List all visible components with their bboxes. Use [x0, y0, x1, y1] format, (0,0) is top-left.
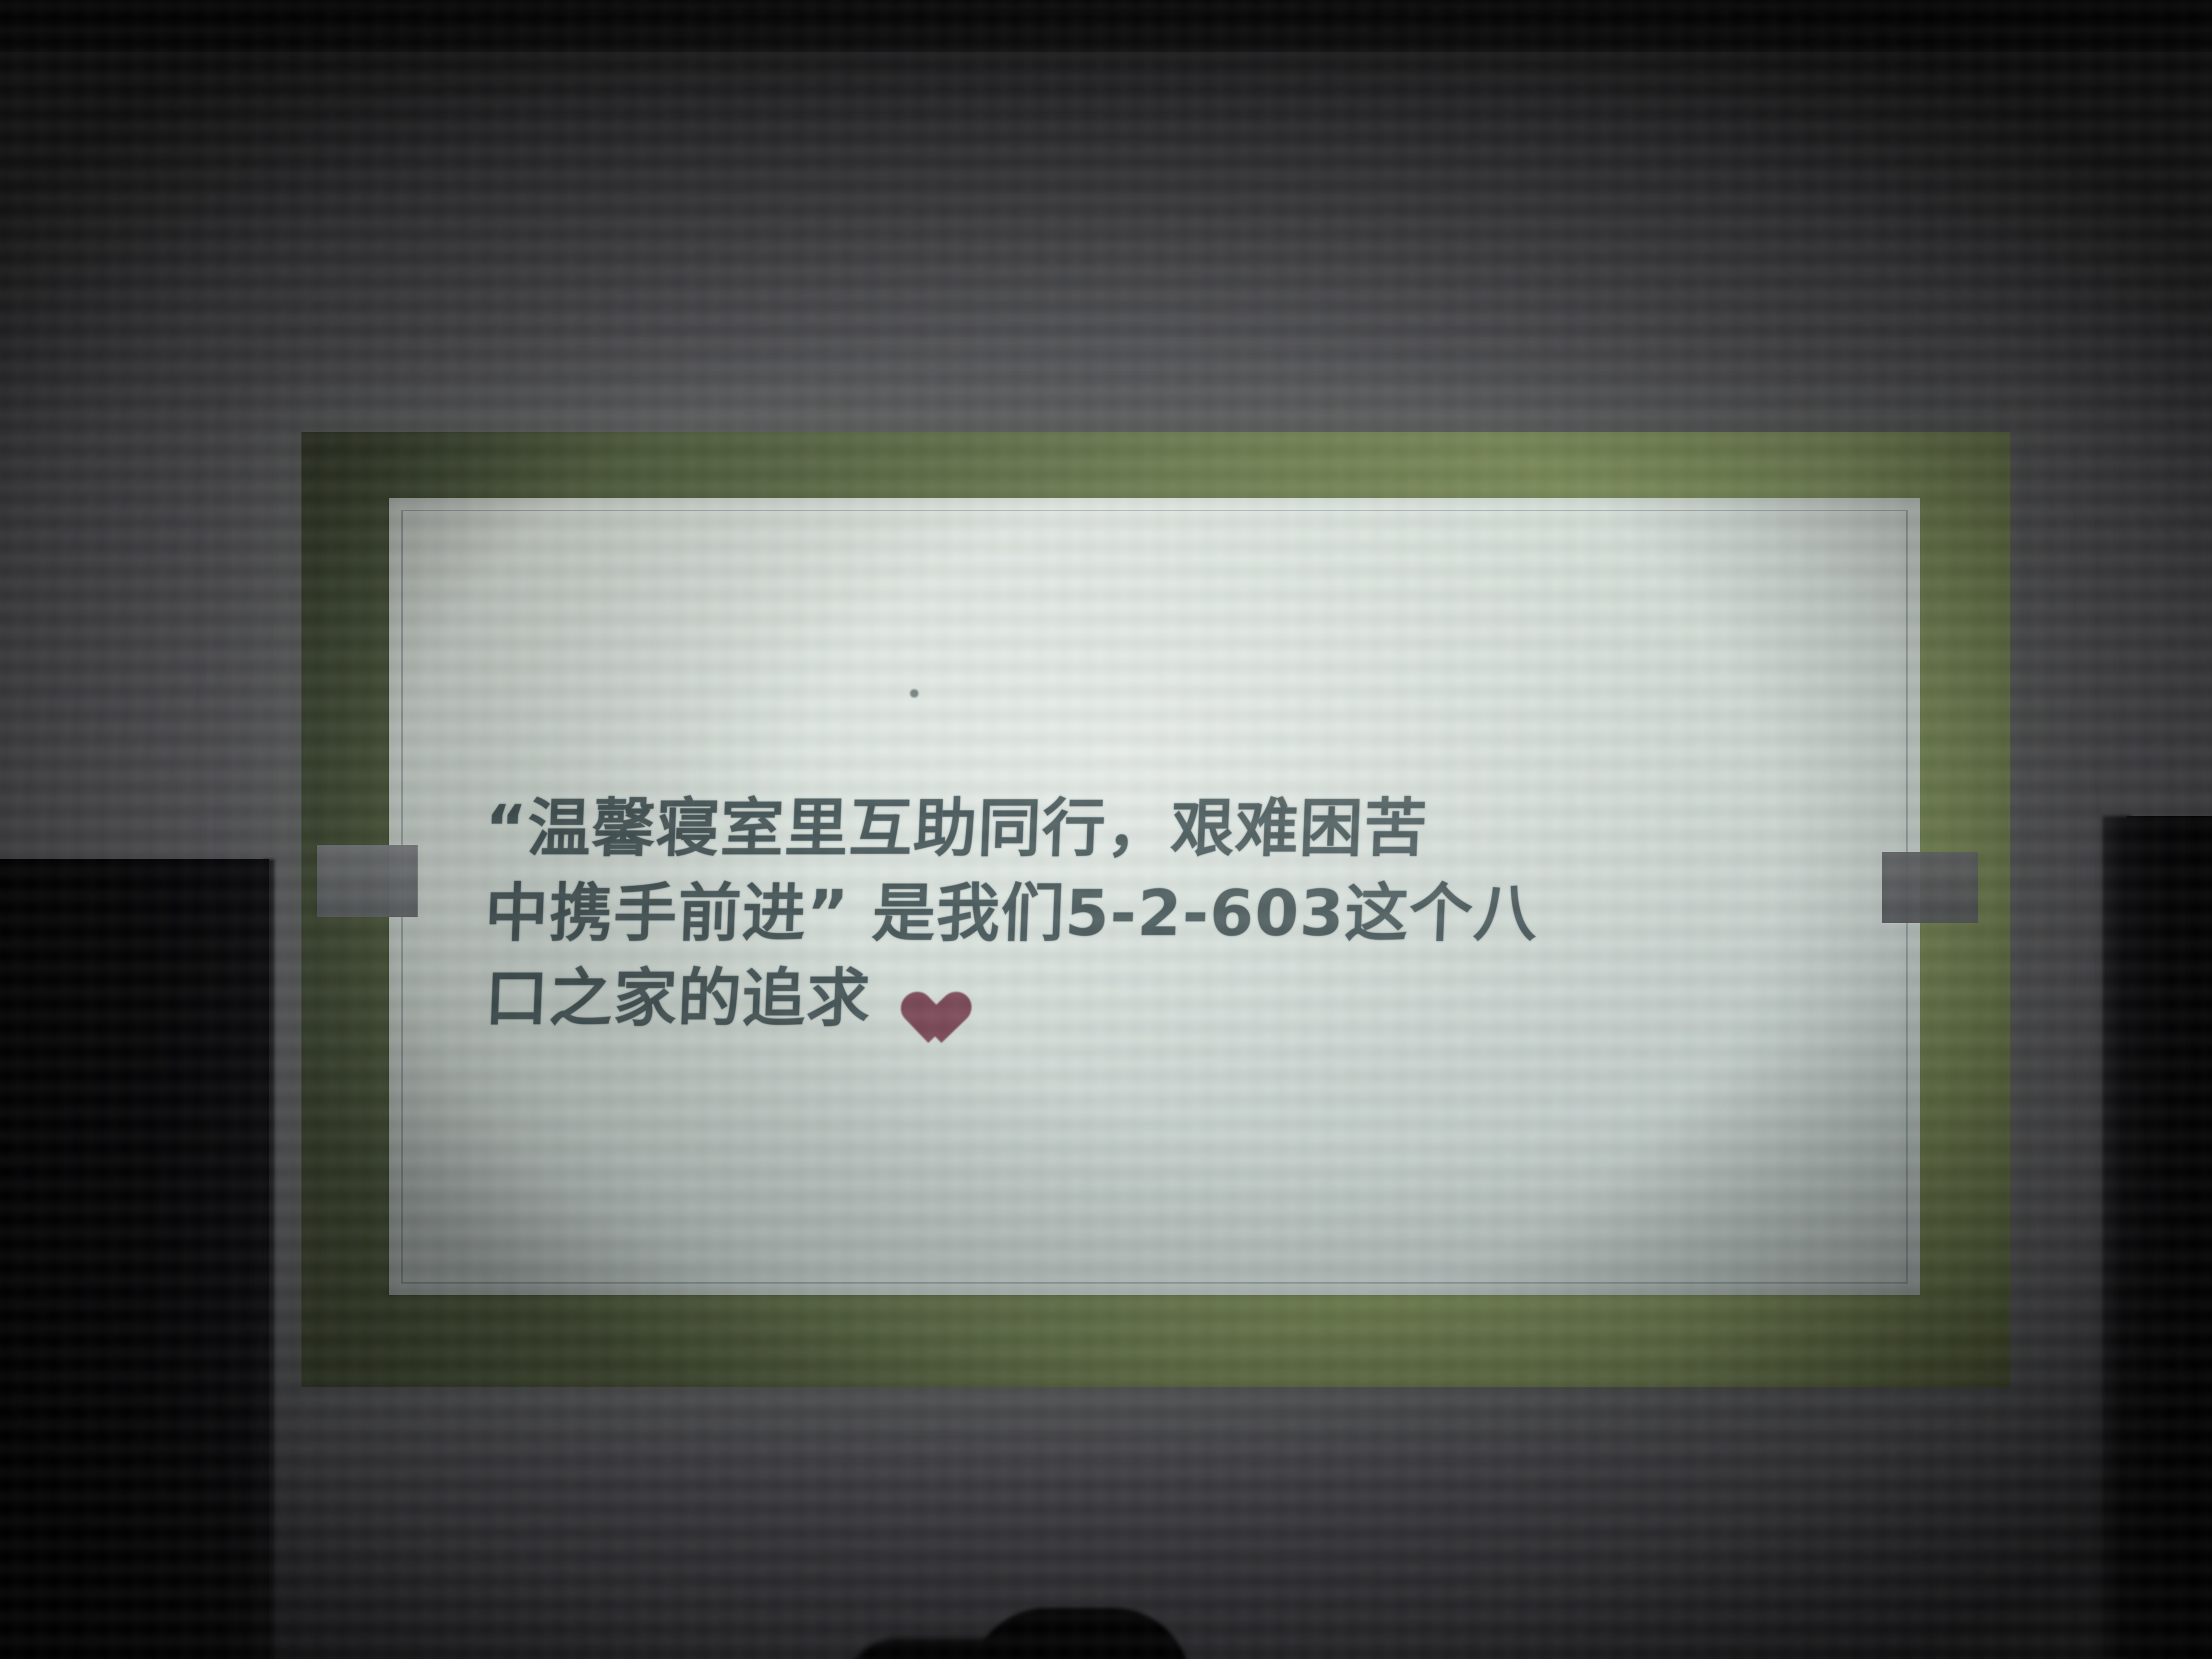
- dark-board-right: [2127, 816, 2212, 1659]
- person-head-silhouette: [970, 1608, 1190, 1659]
- handwritten-line-1: “温馨寝室里互助同行，艰难困苦: [483, 786, 1888, 871]
- dark-board-left: [0, 859, 269, 1659]
- slide-content-panel: “温馨寝室里互助同行，艰难困苦 中携手前进” 是我们5-2-603这个八 口之家…: [389, 498, 1920, 1295]
- tape-mark-right: [1882, 852, 1978, 923]
- dust-speck-icon: [910, 689, 918, 697]
- heart-icon: [891, 969, 952, 1022]
- projected-slide: “温馨寝室里互助同行，艰难困苦 中携手前进” 是我们5-2-603这个八 口之家…: [301, 432, 2010, 1387]
- handwritten-line-3: 口之家的追求: [483, 956, 873, 1041]
- tape-mark-left: [317, 845, 418, 917]
- ceiling-shadow-band: [0, 0, 2212, 52]
- handwritten-line-3-row: 口之家的追求: [483, 956, 1888, 1041]
- handwritten-line-2: 中携手前进” 是我们5-2-603这个八: [483, 871, 1888, 956]
- handwritten-text-block: “温馨寝室里互助同行，艰难困苦 中携手前进” 是我们5-2-603这个八 口之家…: [485, 786, 1887, 1041]
- classroom-scene: “温馨寝室里互助同行，艰难困苦 中携手前进” 是我们5-2-603这个八 口之家…: [0, 0, 2212, 1659]
